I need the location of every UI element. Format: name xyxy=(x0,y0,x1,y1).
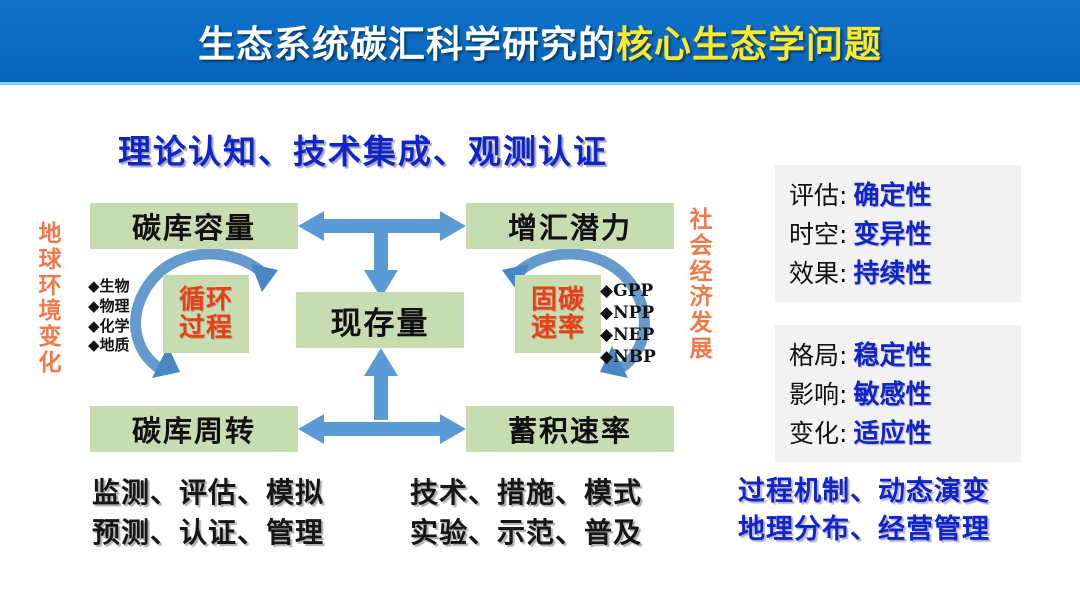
info-row-key: 评估: xyxy=(789,176,847,212)
diagram-box-carbon-capacity[interactable]: 碳库容量 xyxy=(90,203,298,249)
bottom-text-left-line2: 预测、认证、管理 xyxy=(92,513,324,553)
bullet-list-left: ◆生物 ◆物理 ◆化学 ◆地质 xyxy=(88,277,130,356)
diagram-label-carbon-fixation-rate: 固碳 速率 xyxy=(515,275,601,353)
vertical-label-left-char: 环 xyxy=(33,274,67,300)
vertical-label-left-char: 地 xyxy=(33,222,67,248)
vertical-label-right-char: 济 xyxy=(684,285,718,311)
fixation-rate-line2: 速率 xyxy=(531,314,585,342)
bottom-text-left: 监测、评估、模拟 预测、认证、管理 xyxy=(92,473,324,553)
bullet-item: ◆NEP xyxy=(600,324,656,346)
bullet-item: ◆NBP xyxy=(600,346,656,368)
info-panel-bottom: 格局: 稳定性 影响: 敏感性 变化: 适应性 xyxy=(775,325,1021,462)
info-row-key: 变化: xyxy=(789,414,847,450)
info-row: 效果: 持续性 xyxy=(789,253,1007,290)
diagram-box-standing-stock[interactable]: 现存量 xyxy=(296,292,464,348)
info-row-value: 稳定性 xyxy=(853,335,931,372)
info-row-value: 持续性 xyxy=(853,253,931,290)
diagram-box-accumulation-rate[interactable]: 蓄积速率 xyxy=(466,406,674,452)
subtitle: 理论认知、技术集成、观测认证 xyxy=(118,125,608,173)
page-title: 生态系统碳汇科学研究的核心生态学问题 xyxy=(198,14,882,68)
diagram-box-carbon-turnover[interactable]: 碳库周转 xyxy=(90,406,298,452)
vertical-label-right-char: 会 xyxy=(684,234,718,260)
info-row-value: 适应性 xyxy=(853,413,931,450)
vertical-label-left: 地 球 环 境 变 化 xyxy=(33,222,67,377)
info-row-value: 敏感性 xyxy=(853,374,931,411)
diagram-box-sink-potential[interactable]: 增汇潜力 xyxy=(466,203,674,249)
arrow-top-to-center xyxy=(364,226,398,298)
info-row-key: 效果: xyxy=(789,254,847,290)
page-title-highlight: 核心生态学问题 xyxy=(616,23,882,66)
info-row: 变化: 适应性 xyxy=(789,413,1007,450)
info-row: 时空: 变异性 xyxy=(789,214,1007,251)
vertical-label-left-char: 变 xyxy=(33,325,67,351)
fixation-rate-line1: 固碳 xyxy=(531,286,585,314)
vertical-label-right-char: 社 xyxy=(684,208,718,234)
bottom-text-middle-line1: 技术、措施、模式 xyxy=(410,473,642,513)
arrow-bottom-to-center xyxy=(364,348,398,420)
vertical-label-left-char: 境 xyxy=(33,299,67,325)
bullet-item: ◆地质 xyxy=(88,336,130,356)
vertical-label-left-char: 球 xyxy=(33,248,67,274)
info-row: 评估: 确定性 xyxy=(789,175,1007,212)
slide-canvas: 生态系统碳汇科学研究的核心生态学问题 理论认知、技术集成、观测认证 地 球 环 … xyxy=(0,0,1080,608)
info-row: 格局: 稳定性 xyxy=(789,335,1007,372)
info-row: 影响: 敏感性 xyxy=(789,374,1007,411)
bottom-text-left-line1: 监测、评估、模拟 xyxy=(92,473,324,513)
vertical-label-right-char: 经 xyxy=(684,260,718,286)
diagram-label-cycle-process: 循环 过程 xyxy=(163,275,249,353)
info-row-key: 时空: xyxy=(789,215,847,251)
bottom-text-right-line2: 地理分布、经营管理 xyxy=(738,511,990,549)
bottom-text-middle-line2: 实验、示范、普及 xyxy=(410,513,642,553)
bottom-text-right: 过程机制、动态演变 地理分布、经营管理 xyxy=(738,473,990,550)
info-row-value: 变异性 xyxy=(853,214,931,251)
bottom-text-right-line1: 过程机制、动态演变 xyxy=(738,473,990,511)
cycle-process-line2: 过程 xyxy=(179,314,233,342)
vertical-label-right-char: 展 xyxy=(684,337,718,363)
vertical-label-right: 社 会 经 济 发 展 xyxy=(684,208,718,363)
bullet-item: ◆化学 xyxy=(88,317,130,337)
info-row-key: 格局: xyxy=(789,336,847,372)
bottom-text-middle: 技术、措施、模式 实验、示范、普及 xyxy=(410,473,642,553)
info-row-key: 影响: xyxy=(789,375,847,411)
info-row-value: 确定性 xyxy=(853,175,931,212)
bullet-item: ◆物理 xyxy=(88,297,130,317)
info-panel-top: 评估: 确定性 时空: 变异性 效果: 持续性 xyxy=(775,165,1021,302)
bullet-list-right: ◆GPP ◆NPP ◆NEP ◆NBP xyxy=(600,280,656,368)
page-title-primary: 生态系统碳汇科学研究的 xyxy=(198,23,616,66)
slide-header: 生态系统碳汇科学研究的核心生态学问题 xyxy=(0,0,1080,85)
vertical-label-left-char: 化 xyxy=(33,351,67,377)
bullet-item: ◆GPP xyxy=(600,280,656,302)
bullet-item: ◆NPP xyxy=(600,302,656,324)
vertical-label-right-char: 发 xyxy=(684,311,718,337)
bullet-item: ◆生物 xyxy=(88,277,130,297)
cycle-process-line1: 循环 xyxy=(179,286,233,314)
